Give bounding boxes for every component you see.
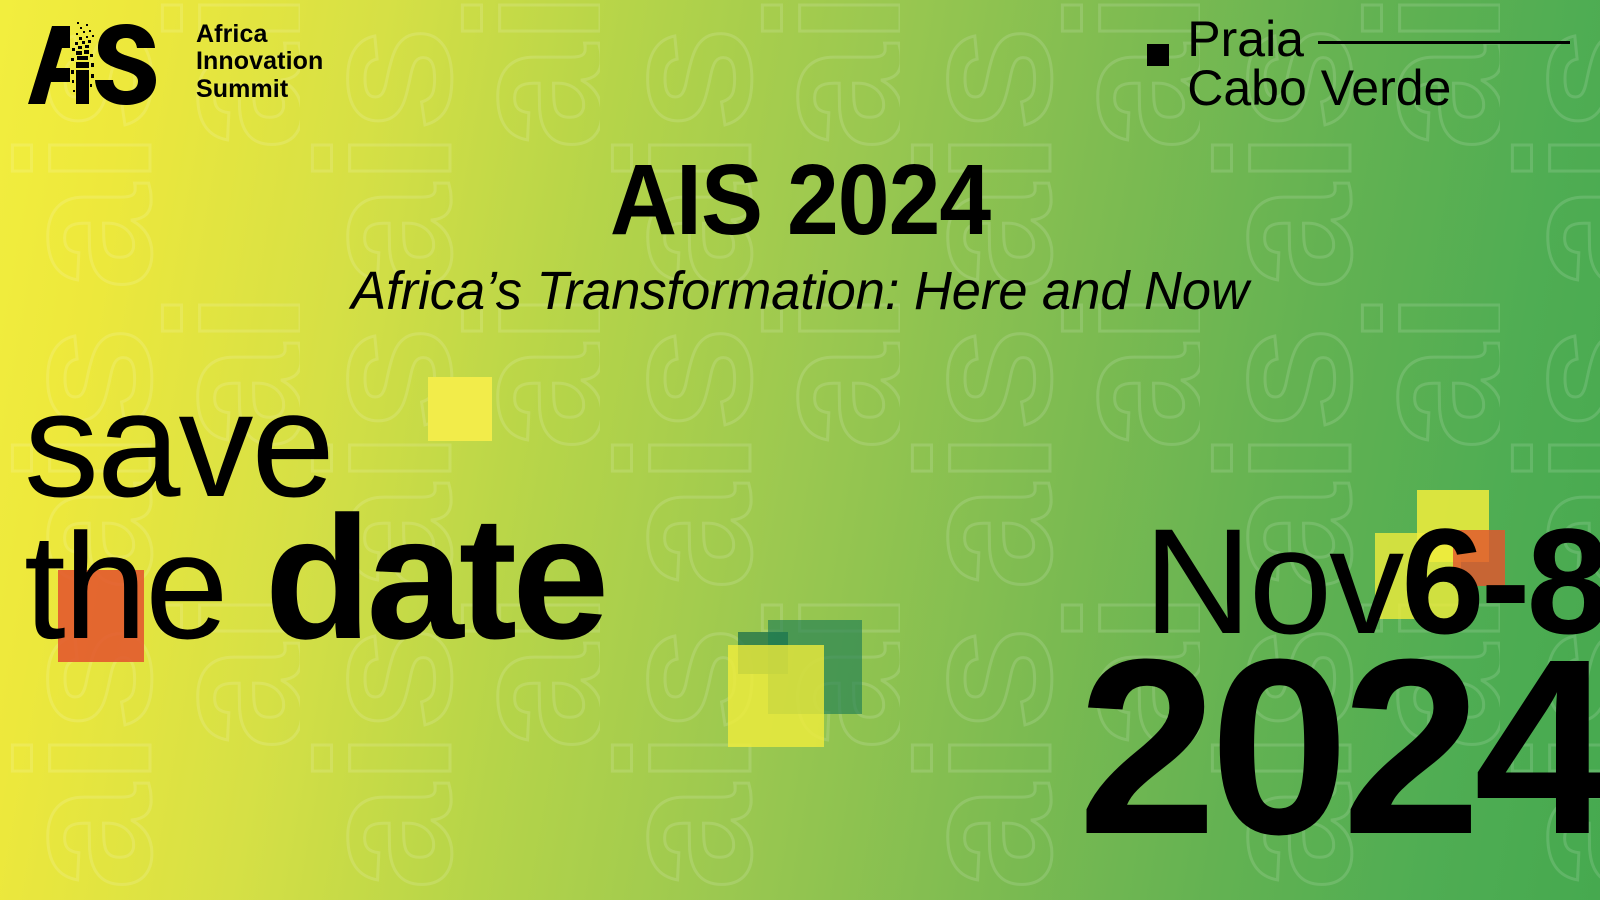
save-the-date-banner: ais ais [0, 0, 1600, 900]
decor-square-teal-small-date [738, 632, 788, 674]
location-country: Cabo Verde [1187, 63, 1570, 114]
headline-block: AIS 2024 Africa’s Transformation: Here a… [0, 150, 1600, 320]
page-subtitle: Africa’s Transformation: Here and Now [24, 262, 1576, 320]
logo-line-summit: Summit [196, 76, 323, 104]
location-rule [1318, 41, 1570, 44]
logo-line-innovation: Innovation [196, 48, 323, 76]
event-date-block: Nov 6-8 2024 [1078, 520, 1600, 847]
location-lines: Praia Cabo Verde [1187, 14, 1570, 114]
decor-square-yellow-date [728, 645, 824, 747]
event-location: Praia Cabo Verde [1147, 14, 1570, 114]
logo-line-africa: Africa [196, 21, 323, 49]
logo-wordmark: Africa Innovation Summit [196, 21, 323, 104]
ais-pixel-logo-icon [26, 18, 174, 106]
decor-square-teal-date [768, 620, 862, 714]
square-bullet-icon [1147, 44, 1169, 66]
the-date-row: the date [24, 504, 604, 655]
event-year: 2024 [1078, 647, 1600, 847]
the-word: the [24, 522, 227, 651]
save-the-date-text: save the date [24, 384, 604, 655]
date-word: date [265, 504, 605, 655]
ais-logo: Africa Innovation Summit [26, 18, 323, 106]
location-city-row: Praia [1187, 14, 1570, 65]
location-city: Praia [1187, 14, 1304, 65]
page-title: AIS 2024 [56, 150, 1544, 250]
